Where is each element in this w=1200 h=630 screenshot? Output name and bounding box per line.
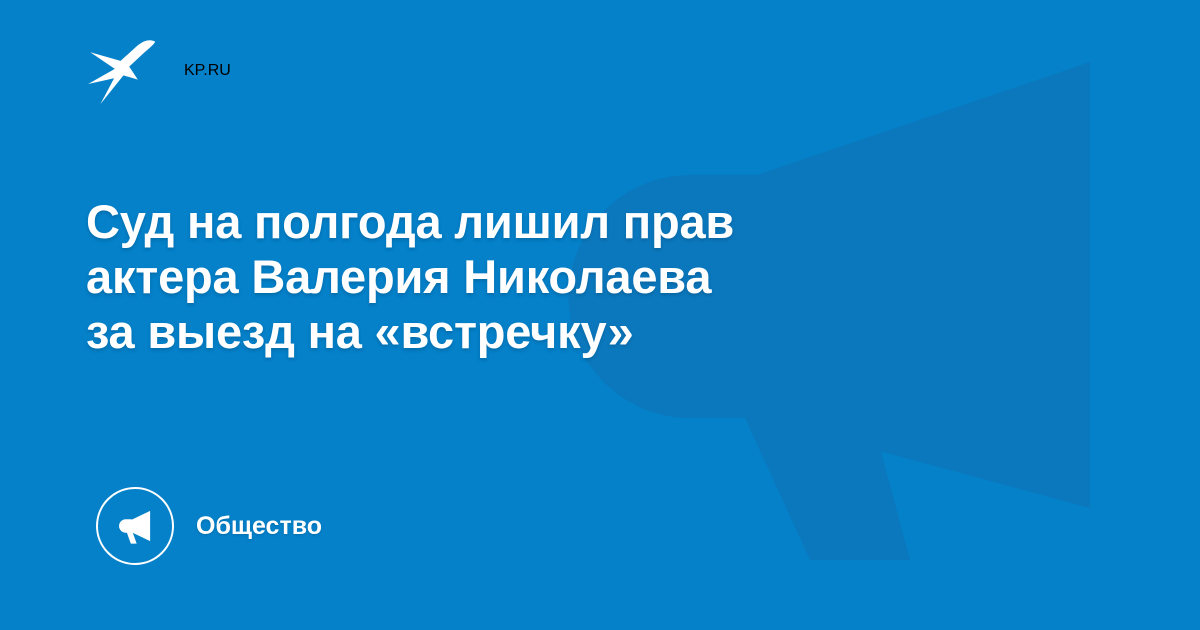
rubric-icon-circle (96, 487, 174, 565)
headline-line: за выезд на «встречку» (86, 304, 946, 359)
headline: Суд на полгода лишил прав актера Валерия… (86, 194, 946, 359)
rubric-label: Общество (196, 514, 322, 539)
site-logo[interactable]: KP.RU (86, 34, 231, 108)
swallow-bird-icon (86, 35, 158, 107)
social-share-card: KP.RU Суд на полгода лишил прав актера В… (0, 0, 1200, 630)
brand-text: KP.RU (184, 62, 231, 80)
rubric-badge[interactable]: Общество (96, 487, 322, 565)
headline-line: актера Валерия Николаева (86, 249, 946, 304)
headline-line: Суд на полгода лишил прав (86, 194, 946, 249)
megaphone-icon (114, 505, 156, 547)
